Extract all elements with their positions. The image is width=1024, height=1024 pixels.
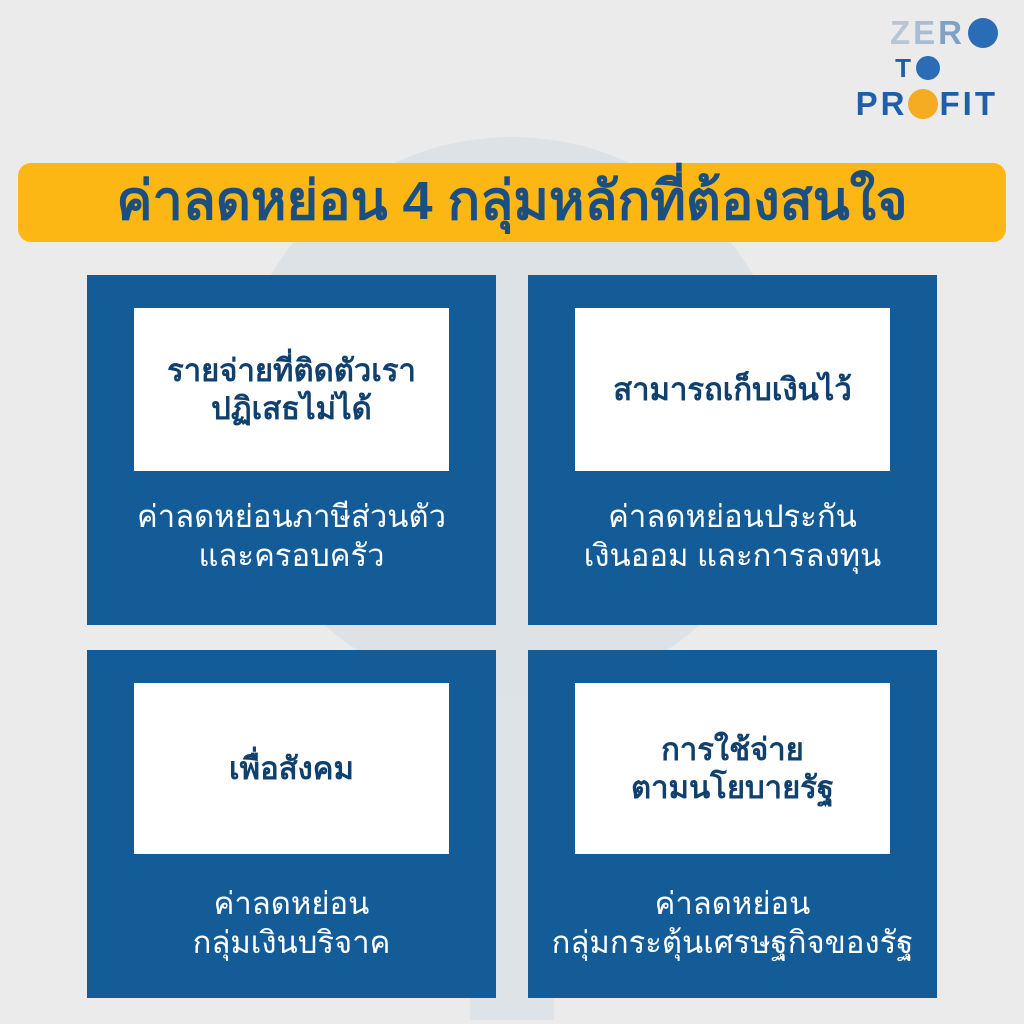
card-2-caption: ค่าลดหย่อนประกัน เงินออม และการลงทุน	[574, 497, 891, 575]
logo-dot-o-gold-icon	[908, 89, 938, 119]
logo-line-zero: ZER	[856, 16, 998, 49]
page-title: ค่าลดหย่อน 4 กลุ่มหลักที่ต้องสนใจ	[116, 174, 907, 228]
card-4-heading: การใช้จ่าย ตามนโยบายรัฐ	[631, 731, 834, 807]
card-2-plate: สามารถเก็บเงินไว้	[575, 308, 890, 471]
logo-letter-p: P	[856, 87, 881, 120]
zero-to-profit-logo: ZER T PRFIT	[856, 16, 998, 120]
logo-letter-i: I	[963, 87, 975, 120]
category-card-3[interactable]: เพื่อสังคม ค่าลดหย่อน กลุ่มเงินบริจาค	[87, 650, 496, 998]
logo-line-profit: PRFIT	[856, 87, 998, 120]
logo-letter-t: T	[895, 55, 914, 81]
logo-letter-f: F	[939, 87, 962, 120]
card-3-caption: ค่าลดหย่อน กลุ่มเงินบริจาค	[183, 884, 401, 962]
category-card-1[interactable]: รายจ่ายที่ติดตัวเรา ปฏิเสธไม่ได้ ค่าลดหย…	[87, 275, 496, 625]
category-card-4[interactable]: การใช้จ่าย ตามนโยบายรัฐ ค่าลดหย่อน กลุ่ม…	[528, 650, 937, 998]
category-card-2[interactable]: สามารถเก็บเงินไว้ ค่าลดหย่อนประกัน เงินอ…	[528, 275, 937, 625]
card-1-caption: ค่าลดหย่อนภาษีส่วนตัว และครอบครัว	[127, 497, 456, 575]
card-2-heading: สามารถเก็บเงินไว้	[613, 371, 852, 409]
logo-letter-z: Z	[890, 16, 913, 49]
card-3-heading: เพื่อสังคม	[229, 750, 354, 788]
card-4-caption: ค่าลดหย่อน กลุ่มกระตุ้นเศรษฐกิจของรัฐ	[542, 884, 924, 962]
infographic-canvas: ZER T PRFIT ค่าลดหย่อน 4 กลุ่มหลักที่ต้อ…	[0, 0, 1024, 1024]
card-3-plate: เพื่อสังคม	[134, 683, 449, 854]
logo-dot-o-blue-small-icon	[916, 56, 940, 80]
logo-line-to: T	[856, 55, 998, 81]
card-4-plate: การใช้จ่าย ตามนโยบายรัฐ	[575, 683, 890, 854]
main-title-banner: ค่าลดหย่อน 4 กลุ่มหลักที่ต้องสนใจ	[18, 163, 1006, 242]
logo-letter-e: E	[913, 16, 938, 49]
logo-letter-t2: T	[975, 87, 998, 120]
card-1-heading: รายจ่ายที่ติดตัวเรา ปฏิเสธไม่ได้	[167, 352, 416, 428]
logo-letter-r2: R	[881, 87, 908, 120]
card-1-plate: รายจ่ายที่ติดตัวเรา ปฏิเสธไม่ได้	[134, 308, 449, 471]
logo-dot-o-blue-icon	[968, 18, 998, 48]
logo-letter-r: R	[938, 16, 965, 49]
category-card-grid: รายจ่ายที่ติดตัวเรา ปฏิเสธไม่ได้ ค่าลดหย…	[87, 275, 937, 998]
